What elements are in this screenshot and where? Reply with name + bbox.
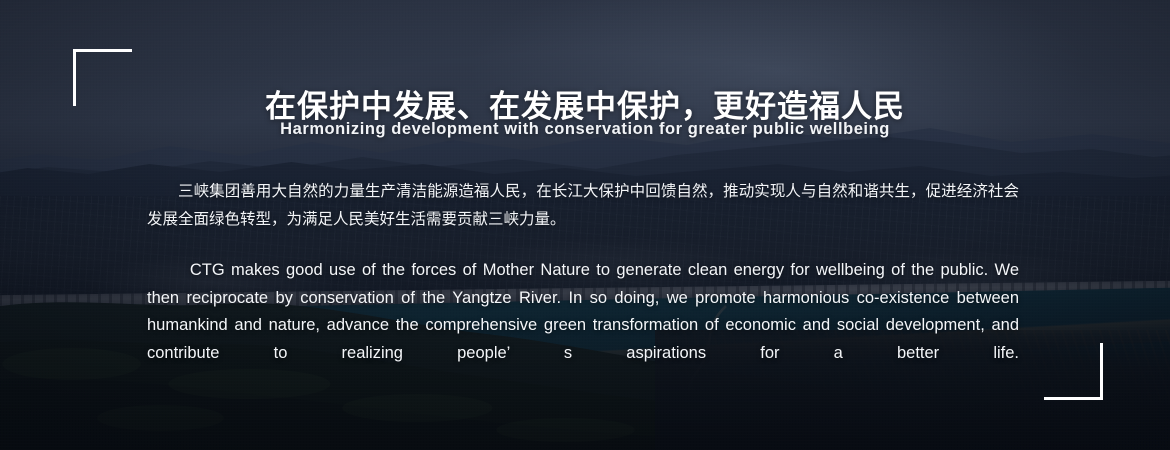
banner-body: 三峡集团善用大自然的力量生产清洁能源造福人民，在长江大保护中回馈自然，推动实现人… <box>147 178 1019 395</box>
banner-content: 在保护中发展、在发展中保护，更好造福人民 Harmonizing develop… <box>0 0 1170 450</box>
paragraph-english: CTG makes good use of the forces of Moth… <box>147 257 1019 395</box>
banner-subtitle: Harmonizing development with conservatio… <box>0 117 1170 141</box>
hero-banner: 在保护中发展、在发展中保护，更好造福人民 Harmonizing develop… <box>0 0 1170 450</box>
paragraph-chinese: 三峡集团善用大自然的力量生产清洁能源造福人民，在长江大保护中回馈自然，推动实现人… <box>147 178 1019 234</box>
